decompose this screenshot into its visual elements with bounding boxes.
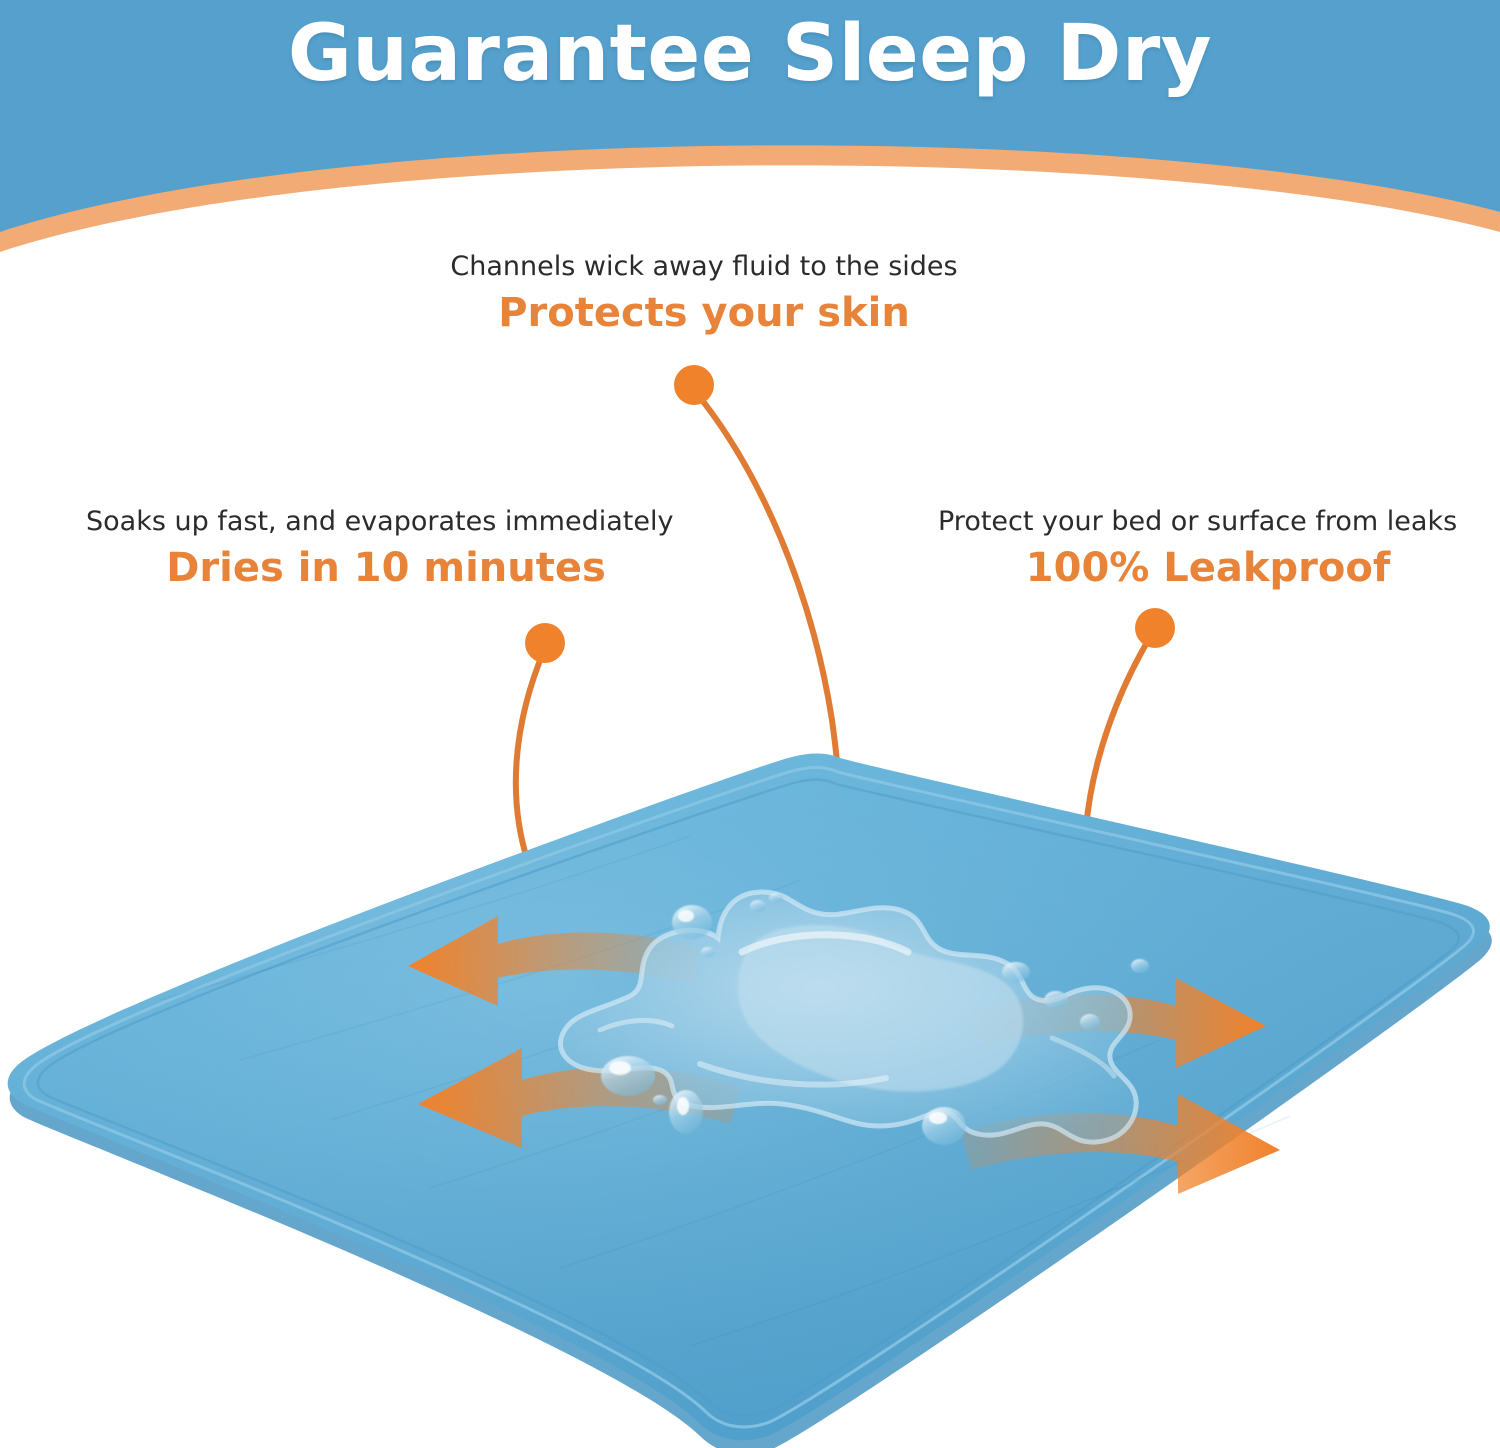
infographic-canvas: Guarantee Sleep Dry Channels wick away f… [0, 0, 1500, 1448]
droplet-11 [701, 947, 715, 957]
dot-marker-right [1135, 608, 1175, 648]
droplet-1 [672, 905, 712, 939]
dot-marker-left [525, 623, 565, 663]
droplet-2 [601, 1056, 655, 1096]
callout-dries-in-10-minutes: Soaks up fast, and evaporates immediatel… [86, 505, 686, 593]
callout-protects-your-skin: Channels wick away fluid to the sides Pr… [444, 250, 964, 338]
callout-headline: 100% Leakproof [938, 543, 1478, 593]
page-title: Guarantee Sleep Dry [0, 14, 1500, 96]
droplet-3-hl [677, 1097, 689, 1115]
header-banner: Guarantee Sleep Dry [0, 0, 1500, 256]
droplet-7 [1080, 1014, 1100, 1030]
droplet-1-hl [678, 910, 694, 922]
droplet-10 [769, 893, 783, 903]
droplet-8 [1131, 959, 1149, 973]
droplet-4-hl [929, 1112, 947, 1124]
droplet-4 [922, 1107, 966, 1145]
droplet-9 [750, 900, 766, 912]
droplet-6 [1044, 991, 1068, 1009]
callout-100-percent-leakproof: Protect your bed or surface from leaks 1… [938, 505, 1478, 593]
callout-subtitle: Channels wick away fluid to the sides [444, 250, 964, 284]
callout-subtitle: Soaks up fast, and evaporates immediatel… [86, 505, 686, 539]
callout-subtitle: Protect your bed or surface from leaks [938, 505, 1478, 539]
droplet-2-hl [609, 1061, 631, 1075]
droplet-12 [653, 1095, 667, 1105]
droplet-5 [1002, 962, 1030, 982]
callout-headline: Dries in 10 minutes [86, 543, 686, 593]
dot-marker-center [674, 365, 714, 405]
callout-headline: Protects your skin [444, 288, 964, 338]
